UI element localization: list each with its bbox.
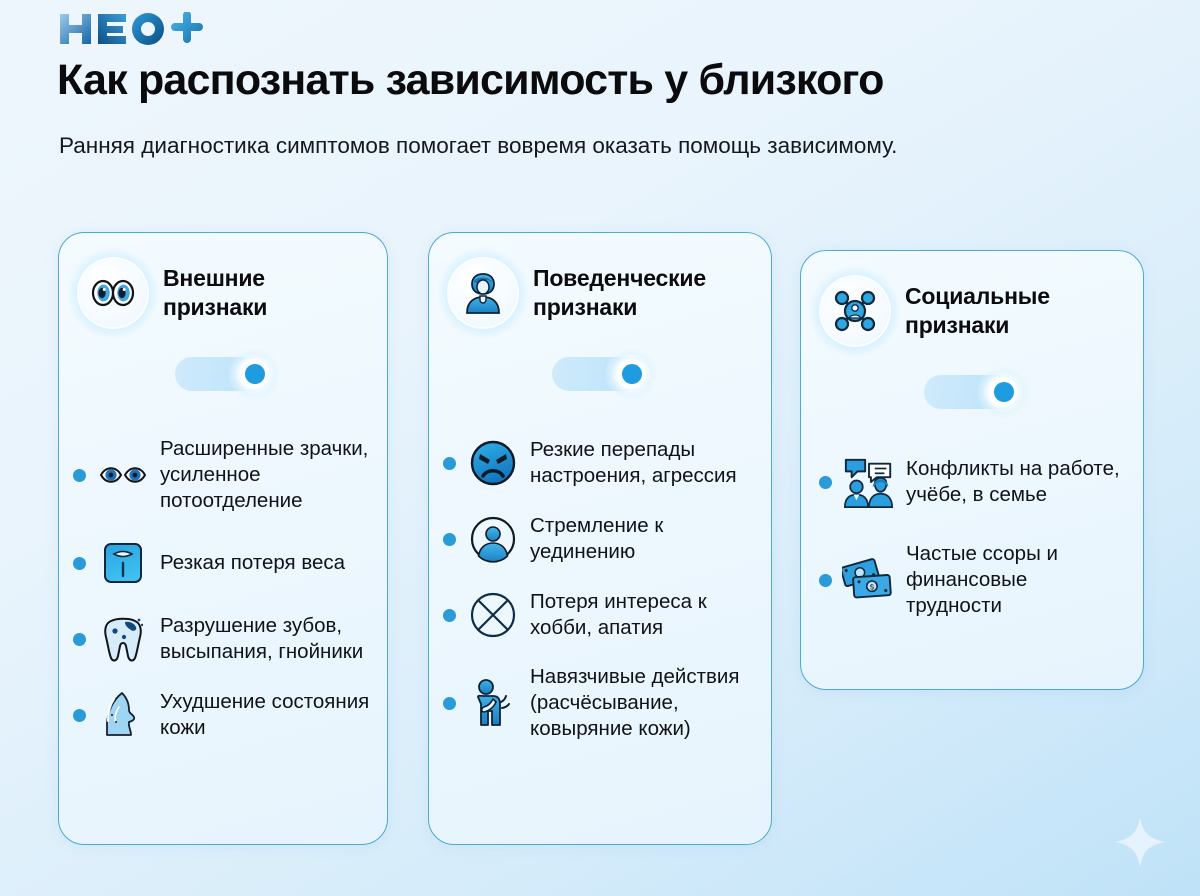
bullet-dot xyxy=(443,533,456,546)
list-item-text: Резкие перепады настроения, агрессия xyxy=(530,437,755,489)
banknotes-icon: $ xyxy=(842,553,896,607)
eyes-icon xyxy=(79,259,147,327)
list-item-text: Стремление к уединению xyxy=(530,513,755,565)
toggle-knob[interactable] xyxy=(994,382,1014,402)
card-header: Социальные признаки xyxy=(801,251,1143,345)
list-item-text: Ухудшение состояния кожи xyxy=(160,689,371,741)
list-item-text: Частые ссоры и финансовые трудности xyxy=(906,541,1127,619)
bullet-dot xyxy=(73,557,86,570)
list-item-text: Навязчивые действия (расчёсывание, ковыр… xyxy=(530,664,755,742)
list-item-text: Расширенные зрачки, усиленное потоотделе… xyxy=(160,436,371,514)
person-circle-icon xyxy=(466,512,520,566)
list-item-text: Конфликты на работе, учёбе, в семье xyxy=(906,456,1127,508)
list-item: Навязчивые действия (расчёсывание, ковыр… xyxy=(443,653,755,753)
card-header: Поведенческие признаки xyxy=(429,233,771,327)
list-item: Конфликты на работе, учёбе, в семье xyxy=(819,439,1127,525)
toggle-switch[interactable] xyxy=(924,375,1020,409)
card-title: Социальные признаки xyxy=(905,282,1125,340)
bullet-dot xyxy=(73,633,86,646)
list-item: Резкие перепады настроения, агрессия xyxy=(443,425,755,501)
signs-list: Резкие перепады настроения, агрессия Стр… xyxy=(429,425,771,753)
list-item-text: Потеря интереса к хобби, апатия xyxy=(530,589,755,641)
page-subtitle: Ранняя диагностика симптомов помогает во… xyxy=(59,129,989,162)
list-item: Расширенные зрачки, усиленное потоотделе… xyxy=(73,425,371,525)
toggle-row xyxy=(429,357,771,391)
toggle-knob[interactable] xyxy=(622,364,642,384)
network-nodes-icon xyxy=(821,277,889,345)
list-item-text: Резкая потеря веса xyxy=(160,550,345,576)
card-header: Внешние признаки xyxy=(59,233,387,327)
bullet-dot xyxy=(819,476,832,489)
list-item: Резкая потеря веса xyxy=(73,525,371,601)
people-conflict-icon xyxy=(842,455,896,509)
toggle-row xyxy=(801,375,1143,409)
list-item: Ухудшение состояния кожи xyxy=(73,677,371,753)
dilated-pupils-icon xyxy=(96,448,150,502)
head-icon-wrap xyxy=(821,277,889,345)
bullet-dot xyxy=(73,709,86,722)
angry-face-icon xyxy=(466,436,520,490)
head-icon-wrap xyxy=(79,259,147,327)
toggle-switch[interactable] xyxy=(175,357,271,391)
list-item: Потеря интереса к хобби, апатия xyxy=(443,577,755,653)
card-behavioral-signs: Поведенческие признаки xyxy=(428,232,772,845)
brand-logo: НЕО+ xyxy=(58,12,208,46)
weight-scale-icon xyxy=(96,536,150,590)
card-social-signs: Социальные признаки xyxy=(800,250,1144,690)
list-item-text: Разрушение зубов, высыпания, гнойники xyxy=(160,613,371,665)
crossed-circle-icon xyxy=(466,588,520,642)
face-skin-icon xyxy=(96,688,150,742)
card-external-signs: Внешние признаки Расширенные зрачки, уси… xyxy=(58,232,388,845)
bullet-dot xyxy=(443,609,456,622)
toggle-knob[interactable] xyxy=(245,364,265,384)
list-item: $ Частые ссоры и финансовые трудности xyxy=(819,525,1127,635)
bullet-dot xyxy=(73,469,86,482)
page-title: Как распознать зависимость у близкого xyxy=(57,56,884,105)
scratching-person-icon xyxy=(466,676,520,730)
card-title: Внешние признаки xyxy=(163,264,369,322)
sparkle-star-icon xyxy=(1114,816,1166,868)
card-title: Поведенческие признаки xyxy=(533,264,753,322)
signs-list: Расширенные зрачки, усиленное потоотделе… xyxy=(59,425,387,753)
person-avatar-icon xyxy=(449,259,517,327)
signs-list: Конфликты на работе, учёбе, в семье $ xyxy=(801,439,1143,635)
bullet-dot xyxy=(443,697,456,710)
toggle-row xyxy=(59,357,387,391)
list-item: Стремление к уединению xyxy=(443,501,755,577)
bullet-dot xyxy=(819,574,832,587)
bullet-dot xyxy=(443,457,456,470)
list-item: Разрушение зубов, высыпания, гнойники xyxy=(73,601,371,677)
head-icon-wrap xyxy=(449,259,517,327)
decayed-tooth-icon xyxy=(96,612,150,666)
toggle-switch[interactable] xyxy=(552,357,648,391)
